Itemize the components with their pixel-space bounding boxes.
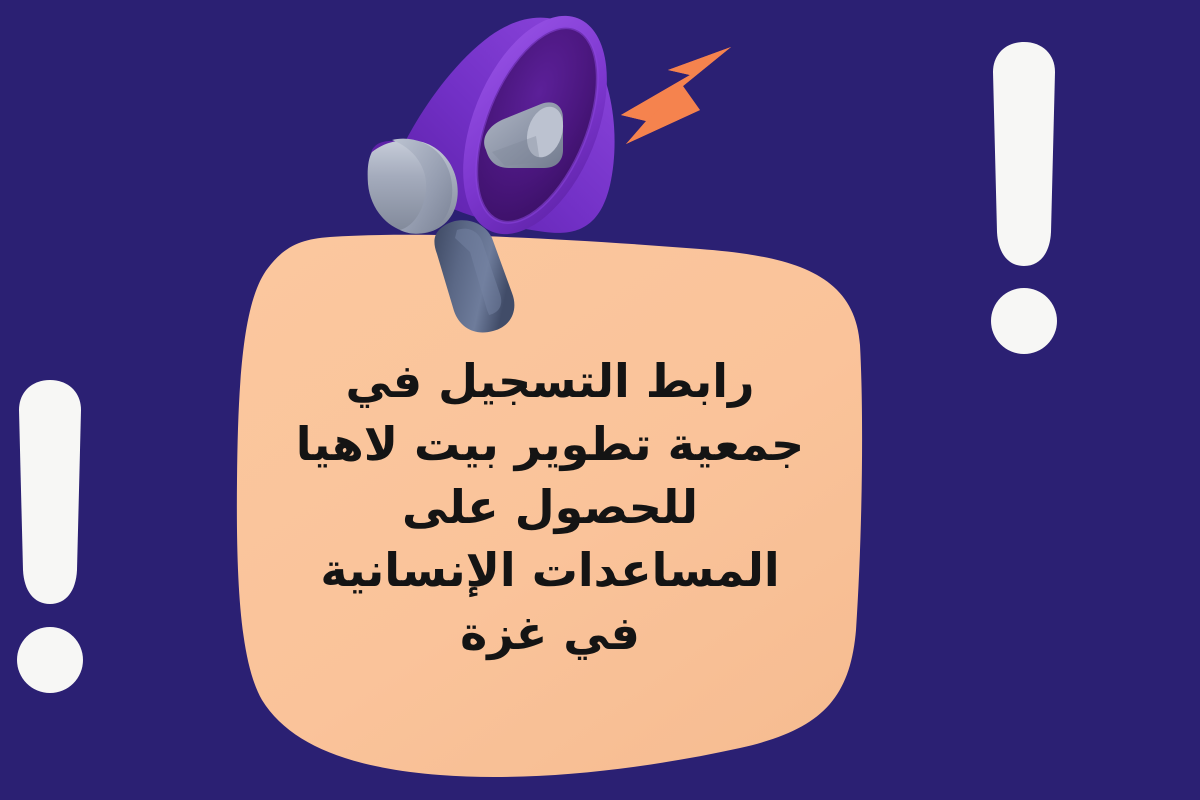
headline-line-1: رابط التسجيل في — [255, 350, 845, 413]
headline-line-5: في غزة — [255, 602, 845, 665]
headline-line-3: للحصول على — [255, 476, 845, 539]
headline-line-2: جمعية تطوير بيت لاهيا — [255, 413, 845, 476]
announcement-headline: رابط التسجيل في جمعية تطوير بيت لاهيا لل… — [255, 350, 845, 665]
headline-line-4: المساعدات الإنسانية — [255, 539, 845, 602]
announcement-poster: رابط التسجيل في جمعية تطوير بيت لاهيا لل… — [0, 0, 1200, 800]
